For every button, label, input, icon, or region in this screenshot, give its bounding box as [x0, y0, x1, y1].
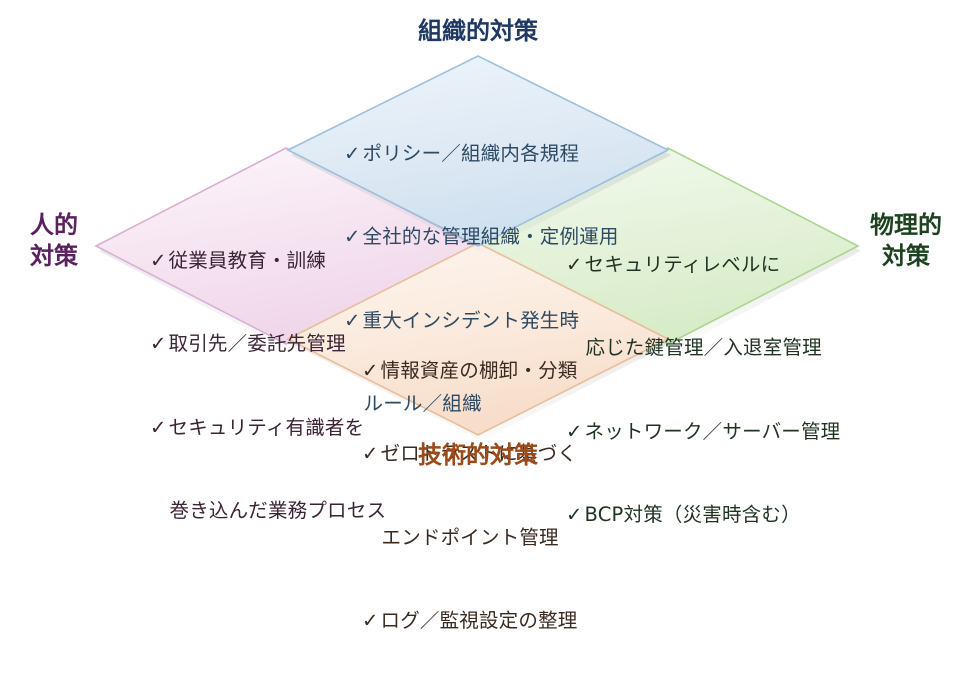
list-item: ✓BCP対策（災害時含む）: [566, 501, 840, 529]
list-item: ✓従業員教育・訓練: [150, 247, 386, 275]
heading-organizational: 組織的対策: [331, 16, 625, 47]
list-item: ✓セキュリティレベルに: [566, 251, 840, 279]
list-item-continuation: エンドポイント管理: [362, 524, 577, 552]
check-icon: ✓: [566, 251, 585, 279]
list-item-label: 取引先／委託先管理: [169, 332, 346, 355]
heading-physical: 物理的 対策: [856, 210, 956, 272]
list-item: ✓情報資産の棚卸・分類: [362, 357, 577, 385]
diagram-canvas: ✓ポリシー／組織内各規程 ✓全社的な管理組織・定例運用 ✓重大インシデント発生時…: [0, 0, 961, 490]
check-icon: ✓: [362, 357, 381, 385]
physical-items: ✓セキュリティレベルに 応じた鍵管理／入退室管理 ✓ネットワーク／サーバー管理 …: [566, 196, 840, 584]
list-item: ✓ポリシー／組織内各規程: [344, 140, 619, 168]
list-item-label: BCP対策（災害時含む）: [585, 503, 801, 526]
check-icon: ✓: [150, 247, 169, 275]
check-icon: ✓: [344, 140, 363, 168]
list-item: ✓取引先／委託先管理: [150, 330, 386, 358]
list-item-label: ログ／監視設定の整理: [381, 609, 578, 632]
heading-human: 人的 対策: [8, 210, 100, 272]
list-item-label: 従業員教育・訓練: [169, 249, 327, 272]
heading-technical: 技術的対策: [331, 440, 625, 471]
list-item-label: セキュリティレベルに: [585, 253, 781, 276]
list-item-label: ポリシー／組織内各規程: [363, 142, 580, 165]
check-icon: ✓: [150, 414, 169, 442]
list-item: ✓ログ／監視設定の整理: [362, 607, 577, 635]
list-item-label: 情報資産の棚卸・分類: [381, 359, 578, 382]
list-item: ✓セキュリティ有識者を: [150, 414, 386, 442]
list-item-label: セキュリティ有識者を: [169, 416, 365, 439]
check-icon: ✓: [150, 330, 169, 358]
list-item-continuation: 応じた鍵管理／入退室管理: [566, 334, 840, 362]
human-items: ✓従業員教育・訓練 ✓取引先／委託先管理 ✓セキュリティ有識者を 巻き込んだ業務…: [150, 192, 386, 580]
list-item-continuation: 巻き込んだ業務プロセス: [150, 497, 386, 525]
check-icon: ✓: [362, 607, 381, 635]
technical-items: ✓情報資産の棚卸・分類 ✓ゼロトラストに基づく エンドポイント管理 ✓ログ／監視…: [362, 302, 577, 690]
